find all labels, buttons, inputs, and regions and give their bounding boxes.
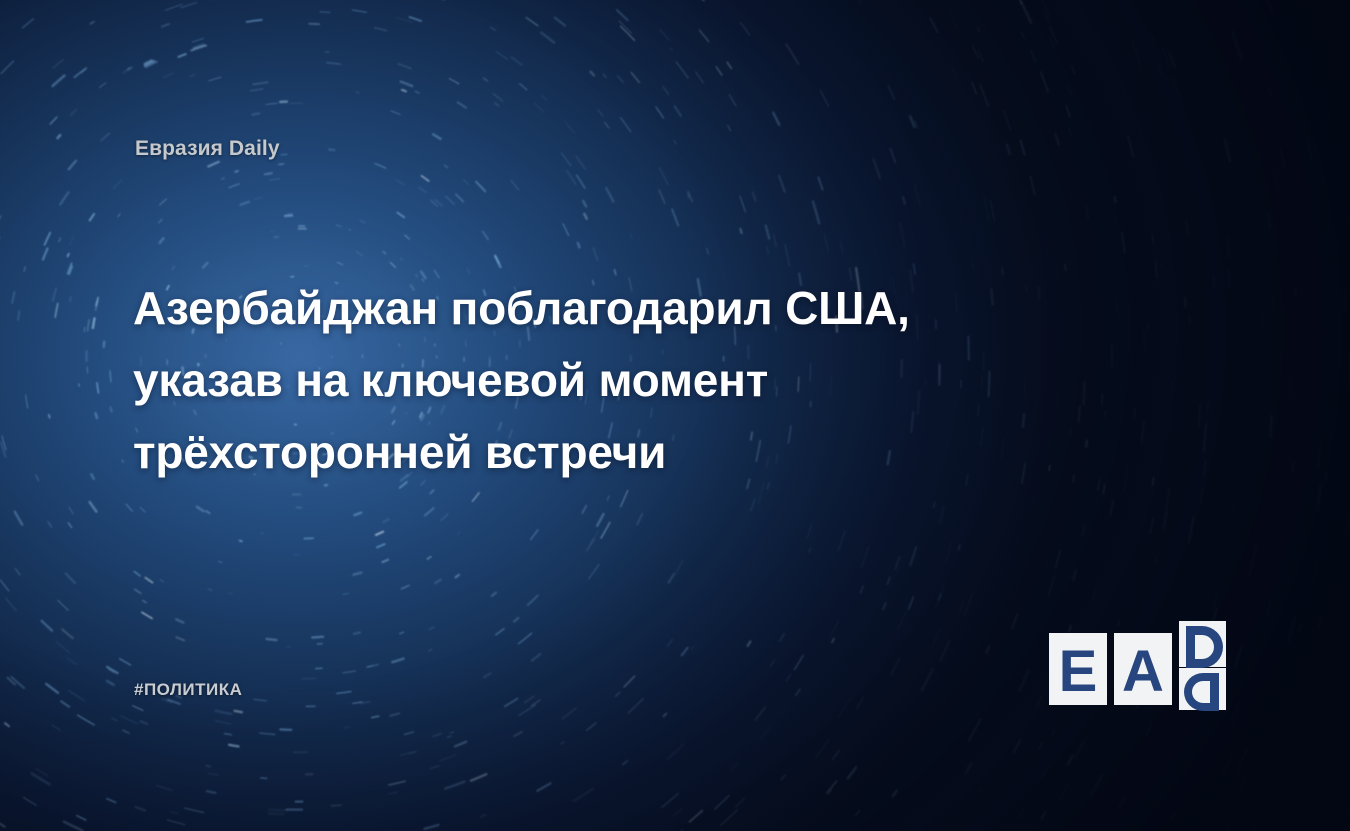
brand-wordmark: Евразия Daily: [135, 137, 280, 161]
eadaily-logo[interactable]: E A: [1045, 620, 1230, 712]
logo-letter-e: E: [1059, 639, 1098, 704]
news-card: Евразия Daily Азербайджан поблагодарил С…: [0, 0, 1350, 831]
headline: Азербайджан поблагодарил США, указав на …: [133, 272, 1133, 488]
headline-line-2: указав на ключевой момент: [133, 344, 1133, 416]
logo-letter-a: A: [1122, 639, 1164, 704]
headline-line-1: Азербайджан поблагодарил США,: [133, 272, 1133, 344]
headline-line-3: трёхсторонней встречи: [133, 416, 1133, 488]
category-hashtag[interactable]: #ПОЛИТИКА: [134, 680, 242, 700]
